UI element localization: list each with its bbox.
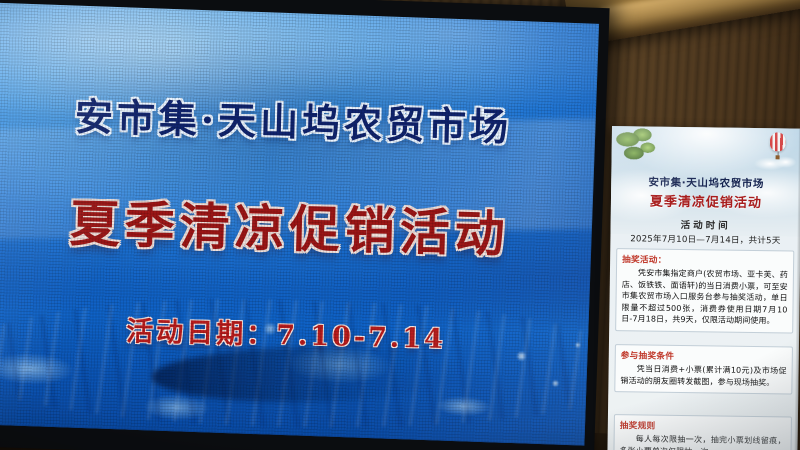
section-title: 抽奖规则 — [620, 419, 786, 433]
scene-root: 安市集·天山坞农贸市场 夏季清凉促销活动 活动日期：7.10-7.14 安市集·… — [0, 0, 800, 450]
section-body: 凭安市集指定商户(农贸市场、亚卡芙、药店、饭铁铁、面语轩)的当日消费小票，可至安… — [621, 267, 788, 327]
screen-date-line: 活动日期：7.10-7.14 — [0, 306, 588, 360]
led-display-panel: 安市集·天山坞农贸市场 夏季清凉促销活动 活动日期：7.10-7.14 — [0, 0, 610, 450]
screen-title: 安市集·天山坞农贸市场 — [0, 84, 596, 154]
section-body: 凭当日消费+小票(累计满10元)及市场促销活动的朋友圈转发截图，参与现场抽奖。 — [620, 363, 786, 389]
section-title: 抽奖活动： — [622, 253, 788, 267]
poster-header-line2: 夏季清凉促销活动 — [611, 190, 800, 212]
poster-section-conditions: 参与抽奖条件 凭当日消费+小票(累计满10元)及市场促销活动的朋友圈转发截图，参… — [614, 344, 793, 395]
balloon-envelope — [770, 132, 786, 151]
section-title: 参与抽奖条件 — [621, 349, 787, 363]
balloon-basket — [776, 155, 780, 159]
wall-poster: 安市集·天山坞农贸市场 夏季清凉促销活动 活动时间 2025年7月10日—7月1… — [607, 126, 800, 450]
screen-subtitle: 夏季清凉促销活动 — [0, 182, 593, 269]
green-leaf-icon — [613, 128, 660, 169]
poster-section-lottery: 抽奖活动： 凭安市集指定商户(农贸市场、亚卡芙、药店、饭铁铁、面语轩)的当日消费… — [615, 248, 794, 333]
hot-air-balloon-icon — [770, 132, 786, 160]
poster-time-value: 2025年7月10日—7月14日，共计5天 — [610, 232, 800, 247]
led-screen-surface: 安市集·天山坞农贸市场 夏季清凉促销活动 活动日期：7.10-7.14 — [0, 3, 599, 446]
poster-header-line1: 安市集·天山坞农贸市场 — [611, 174, 800, 192]
screen-text-layer: 安市集·天山坞农贸市场 夏季清凉促销活动 活动日期：7.10-7.14 — [0, 3, 599, 446]
poster-section-rules: 抽奖规则 每人每次限抽一次，抽完小票划线留痕，多张小票单次仅限抽一次。 — [613, 414, 792, 450]
section-body: 每人每次限抽一次，抽完小票划线留痕，多张小票单次仅限抽一次。 — [619, 433, 785, 450]
poster-time-label: 活动时间 — [611, 216, 800, 233]
